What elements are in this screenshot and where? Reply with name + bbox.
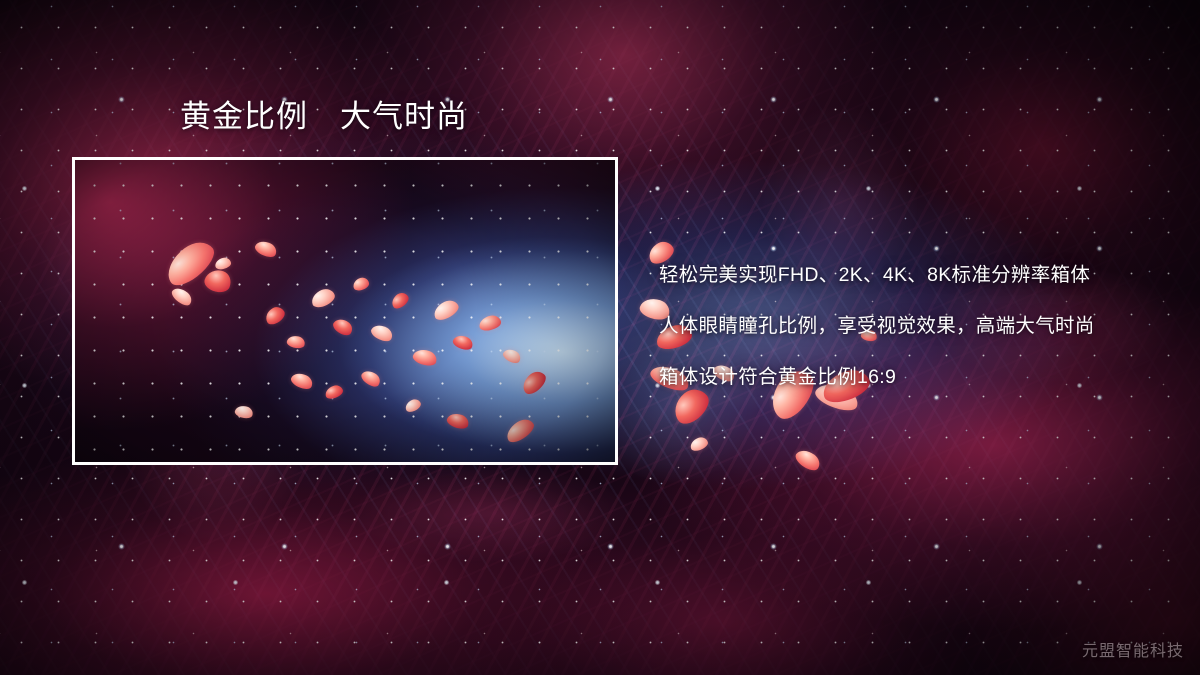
body-line-3: 箱体设计符合黄金比例16:9 <box>659 360 1159 389</box>
framed-photo-vignette <box>75 160 615 462</box>
watermark: 元盟智能科技 <box>1082 637 1184 661</box>
slide-title: 黄金比例 大气时尚 <box>180 100 468 134</box>
slide-body-text: 轻松完美实现FHD、2K、4K、8K标准分辨率箱体 人体眼睛瞳孔比例，享受视觉效… <box>659 258 1159 389</box>
body-line-2: 人体眼睛瞳孔比例，享受视觉效果，高端大气时尚 <box>659 309 1159 338</box>
photo-frame-inner <box>75 160 615 462</box>
photo-frame <box>72 157 618 465</box>
body-line-1: 轻松完美实现FHD、2K、4K、8K标准分辨率箱体 <box>659 258 1159 287</box>
presentation-slide: 黄金比例 大气时尚 轻松完美实现FHD、2K、4K、8K标准分辨率箱体 人体眼睛… <box>0 0 1200 675</box>
